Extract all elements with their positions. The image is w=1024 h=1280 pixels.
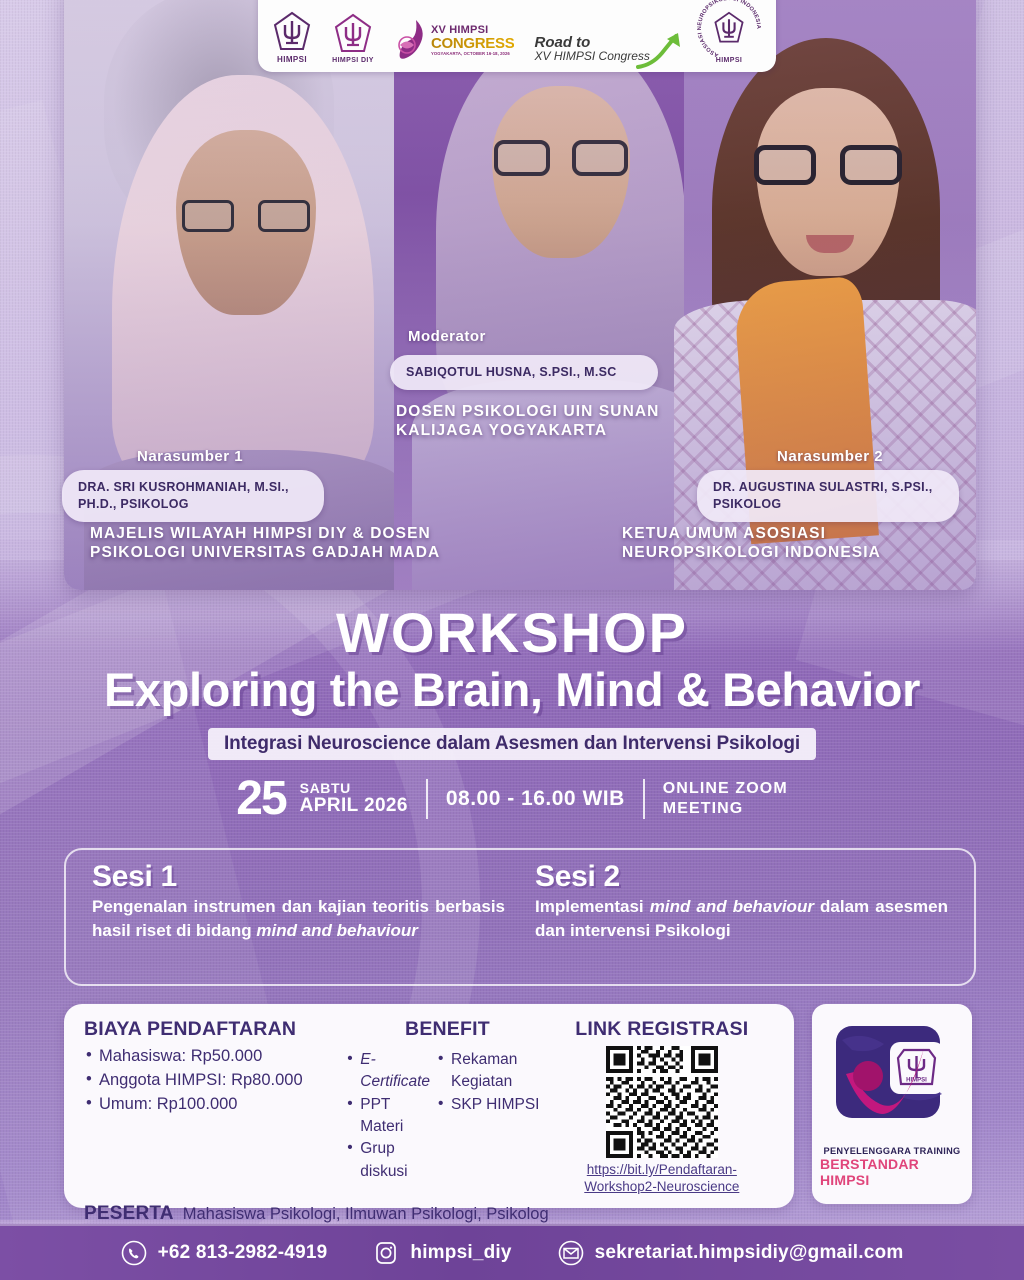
whatsapp-contact[interactable]: +62 813-2982-4919 xyxy=(121,1240,328,1266)
himpsi-logo-caption: HIMPSI xyxy=(277,55,307,64)
session-1: Sesi 1 Pengenalan instrumen dan kajian t… xyxy=(92,860,505,972)
session-2: Sesi 2 Implementasi mind and behaviour d… xyxy=(535,860,948,972)
instagram-contact[interactable]: himpsi_diy xyxy=(373,1240,511,1266)
fees-column: BIAYA PENDAFTARAN Mahasiswa: Rp50.000 An… xyxy=(84,1018,345,1196)
congress-subtitle: YOGYAKARTA, OCTOBER 16-18, 2026 xyxy=(431,52,514,56)
psi-shield-icon xyxy=(333,13,373,55)
session-2-text: Implementasi mind and behaviour dalam as… xyxy=(535,895,948,943)
event-mode-line2: MEETING xyxy=(663,799,788,819)
contact-footer: +62 813-2982-4919 himpsi_diy sekretariat… xyxy=(0,1224,1024,1280)
participants-label: PESERTA xyxy=(84,1203,174,1225)
session-1-text: Pengenalan instrumen dan kajian teoritis… xyxy=(92,895,505,943)
divider xyxy=(643,779,645,819)
logo-bar: HIMPSI HIMPSI DIY XV HIMPSI CONGRESS YOG… xyxy=(258,0,776,72)
badge-line2: BERSTANDAR HIMPSI xyxy=(820,1156,964,1188)
himpsi-training-icon: HIMPSI xyxy=(828,1020,956,1140)
info-card: BIAYA PENDAFTARAN Mahasiswa: Rp50.000 An… xyxy=(64,1004,794,1208)
sessions-box: Sesi 1 Pengenalan instrumen dan kajian t… xyxy=(64,848,976,986)
event-datetime-row: 25 SABTU APRIL 2026 08.00 - 16.00 WIB ON… xyxy=(0,778,1024,819)
event-mode-line1: ONLINE ZOOM xyxy=(663,779,788,799)
moderator-name: SABIQOTUL HUSNA, S.PSI., M.SC xyxy=(390,355,658,390)
congress-swirl-icon xyxy=(394,18,428,64)
event-time: 08.00 - 16.00 WIB xyxy=(446,787,625,811)
training-standard-badge: HIMPSI PENYELENGGARA TRAINING BERSTANDAR… xyxy=(812,1004,972,1204)
psi-shield-icon xyxy=(272,11,312,53)
instagram-icon xyxy=(373,1240,399,1266)
benefit-list-1: E-Certificate PPT Materi Grup diskusi xyxy=(345,1049,430,1183)
xv-himpsi-congress-logo: XV HIMPSI CONGRESS YOGYAKARTA, OCTOBER 1… xyxy=(394,18,514,64)
road-to-line1: Road to xyxy=(535,35,591,50)
himpsi-logo: HIMPSI xyxy=(272,11,312,64)
speaker-2-role: Narasumber 2 xyxy=(777,448,883,465)
divider xyxy=(426,779,428,819)
badge-line1: PENYELENGGARA TRAINING xyxy=(824,1146,961,1156)
speaker-2-affiliation: KETUA UMUM ASOSIASI NEUROPSIKOLOGI INDON… xyxy=(622,524,962,563)
asosiasi-neuropsikologi-indonesia-logo: ASOSIASI NEUROPSIKOLOGI INDONESIA HIMPSI xyxy=(696,0,762,64)
registration-link[interactable]: https://bit.ly/Pendaftaran- Workshop2-Ne… xyxy=(550,1162,774,1196)
whatsapp-icon xyxy=(121,1240,147,1266)
instagram-handle: himpsi_diy xyxy=(410,1242,511,1264)
list-item: Umum: Rp100.000 xyxy=(84,1093,345,1117)
participants-row: PESERTA Mahasiswa Psikologi, Ilmuwan Psi… xyxy=(84,1203,774,1225)
event-day-name: SABTU xyxy=(300,781,408,796)
speaker-1-affiliation: MAJELIS WILAYAH HIMPSI DIY & DOSEN PSIKO… xyxy=(90,524,520,563)
benefit-column: BENEFIT E-Certificate PPT Materi Grup di… xyxy=(345,1018,549,1196)
fees-heading: BIAYA PENDAFTARAN xyxy=(84,1018,345,1041)
registration-column: LINK REGISTRASI xyxy=(550,1018,774,1196)
list-item: Rekaman Kegiatan xyxy=(436,1049,550,1094)
himpsi-diy-logo-caption: HIMPSI DIY xyxy=(332,57,374,64)
list-item: Mahasiswa: Rp50.000 xyxy=(84,1045,345,1069)
list-item: E-Certificate xyxy=(345,1049,430,1094)
benefit-list-2: Rekaman Kegiatan SKP HIMPSI xyxy=(436,1049,550,1183)
email-address: sekretariat.himpsidiy@gmail.com xyxy=(595,1242,904,1264)
page-title: Exploring the Brain, Mind & Behavior xyxy=(0,662,1024,717)
event-month-year: APRIL 2026 xyxy=(300,796,408,816)
road-to-congress-logo: Road to XV HIMPSI Congress xyxy=(535,35,676,64)
list-item: Anggota HIMPSI: Rp80.000 xyxy=(84,1069,345,1093)
congress-title-line2: CONGRESS xyxy=(431,36,514,51)
whatsapp-number: +62 813-2982-4919 xyxy=(158,1242,328,1264)
list-item: SKP HIMPSI xyxy=(436,1094,550,1116)
list-item: Grup diskusi xyxy=(345,1138,430,1183)
speaker-1-name: DRA. SRI KUSROHMANIAH, M.SI., PH.D., PSI… xyxy=(62,470,324,522)
speaker-2-name: DR. AUGUSTINA SULASTRI, S.PSI., PSIKOLOG xyxy=(697,470,959,522)
himpsi-diy-logo: HIMPSI DIY xyxy=(332,13,374,64)
registration-url-line2: Workshop2-Neuroscience xyxy=(584,1179,739,1194)
badge-artwork: HIMPSI xyxy=(828,1020,956,1140)
badge-himpsi-highlight: HIMPSI xyxy=(820,1172,869,1188)
page-title-kicker: WORKSHOP xyxy=(0,600,1024,665)
moderator-affiliation: DOSEN PSIKOLOGI UIN SUNAN KALIJAGA YOGYA… xyxy=(396,402,706,441)
participants-value: Mahasiswa Psikologi, Ilmuwan Psikologi, … xyxy=(183,1205,549,1224)
list-item: PPT Materi xyxy=(345,1094,430,1139)
event-mode: ONLINE ZOOM MEETING xyxy=(663,779,788,819)
speaker-1-role: Narasumber 1 xyxy=(137,448,243,465)
email-icon xyxy=(558,1240,584,1266)
psi-shield-icon xyxy=(713,11,745,45)
green-arrow-icon xyxy=(636,31,682,71)
registration-url-line1: https://bit.ly/Pendaftaran- xyxy=(587,1162,737,1177)
fees-list: Mahasiswa: Rp50.000 Anggota HIMPSI: Rp80… xyxy=(84,1045,345,1116)
session-1-title: Sesi 1 xyxy=(92,860,505,894)
svg-text:HIMPSI: HIMPSI xyxy=(906,1078,927,1084)
session-2-title: Sesi 2 xyxy=(535,860,948,894)
tagline: Integrasi Neuroscience dalam Asesmen dan… xyxy=(208,728,816,760)
moderator-role: Moderator xyxy=(408,328,486,345)
email-contact[interactable]: sekretariat.himpsidiy@gmail.com xyxy=(558,1240,904,1266)
tagline-wrapper: Integrasi Neuroscience dalam Asesmen dan… xyxy=(0,728,1024,760)
registration-heading: LINK REGISTRASI xyxy=(550,1018,774,1041)
benefit-heading: BENEFIT xyxy=(345,1018,549,1041)
qr-code[interactable] xyxy=(606,1046,718,1158)
event-day-number: 25 xyxy=(236,778,285,819)
road-to-line2: XV HIMPSI Congress xyxy=(535,50,650,64)
